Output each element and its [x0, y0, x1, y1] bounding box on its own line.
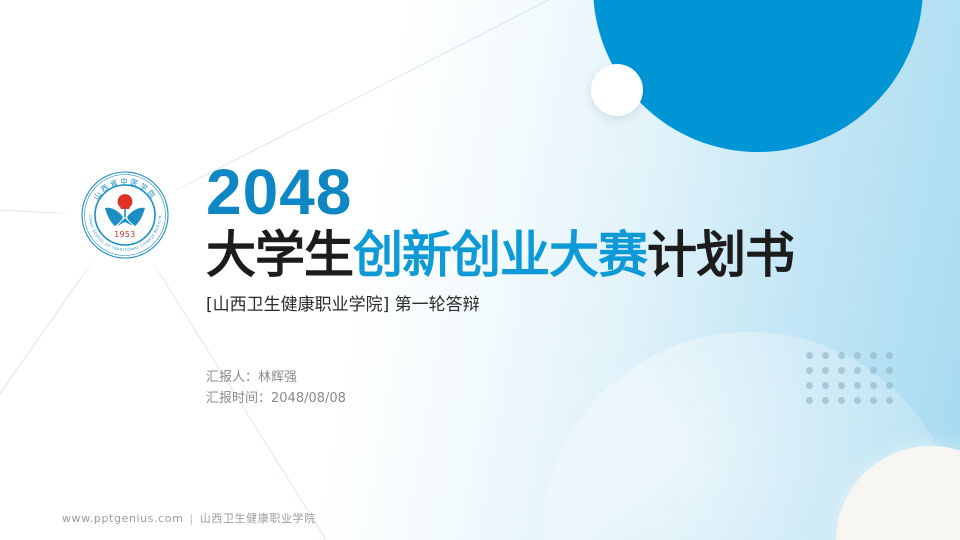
decorative-dot — [886, 382, 893, 389]
decorative-dot — [854, 397, 861, 404]
footer-website: www.pptgenius.com — [62, 512, 183, 525]
decorative-dot — [838, 367, 845, 374]
decorative-dot — [886, 352, 893, 359]
year-heading: 2048 — [206, 160, 846, 224]
decorative-dot — [806, 367, 813, 374]
decorative-dot — [870, 397, 877, 404]
decorative-dot — [838, 382, 845, 389]
decorative-dot — [854, 382, 861, 389]
decorative-dot — [886, 397, 893, 404]
decorative-dot — [822, 352, 829, 359]
school-logo: 山西省中医学院 SHANXI SCHOOL OF TRADITIONAL CHI… — [68, 158, 181, 271]
decorative-dot — [806, 397, 813, 404]
footer-separator: | — [189, 512, 193, 525]
decorative-white-dot — [591, 64, 643, 116]
decorative-dot — [806, 352, 813, 359]
decorative-dot — [838, 352, 845, 359]
slide-footer: www.pptgenius.com|山西卫生健康职业学院 — [62, 510, 316, 526]
decorative-dot — [854, 367, 861, 374]
headline-segment-accent: 创新创业大赛 — [353, 226, 647, 284]
decorative-dot — [806, 382, 813, 389]
presentation-slide: 山西省中医学院 SHANXI SCHOOL OF TRADITIONAL CHI… — [0, 0, 960, 540]
decorative-dot — [886, 367, 893, 374]
headline-segment-dark-lead: 大学生 — [206, 226, 353, 284]
main-headline: 大学生创新创业大赛计划书 — [206, 226, 846, 284]
decorative-dot — [870, 352, 877, 359]
presentation-date: 汇报时间：2048/08/08 — [206, 388, 346, 409]
decorative-dot — [822, 382, 829, 389]
decorative-blue-circle — [593, 0, 923, 152]
presenter-info: 汇报人：林辉强 汇报时间：2048/08/08 — [206, 367, 346, 409]
decorative-soft-circle — [540, 332, 960, 540]
title-block: 2048 大学生创新创业大赛计划书 [山西卫生健康职业学院] 第一轮答辩 — [206, 160, 846, 317]
svg-text:1953: 1953 — [114, 230, 136, 239]
decorative-dot-grid — [806, 352, 902, 412]
presenter-name: 汇报人：林辉强 — [206, 367, 346, 388]
school-emblem-icon: 山西省中医学院 SHANXI SCHOOL OF TRADITIONAL CHI… — [77, 167, 173, 263]
decorative-dot — [870, 367, 877, 374]
decorative-dot — [870, 382, 877, 389]
subtitle: [山西卫生健康职业学院] 第一轮答辩 — [206, 293, 846, 317]
decorative-dot — [838, 397, 845, 404]
headline-segment-dark-tail: 计划书 — [647, 226, 794, 284]
decorative-dot — [854, 352, 861, 359]
decorative-dot — [822, 367, 829, 374]
decorative-dot — [822, 397, 829, 404]
footer-institution: 山西卫生健康职业学院 — [200, 512, 316, 525]
decorative-cream-circle — [836, 446, 960, 540]
